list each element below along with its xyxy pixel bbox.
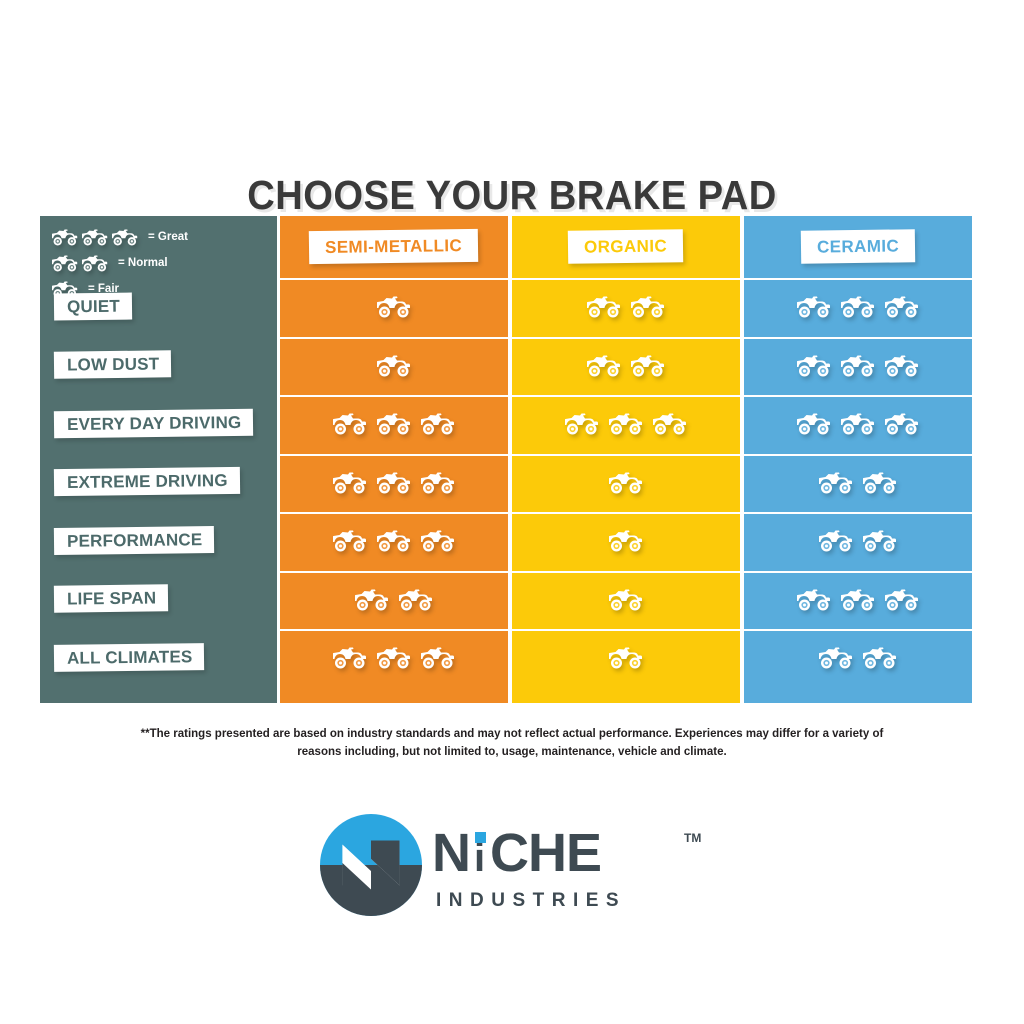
atv-icon: [355, 588, 389, 612]
atv-icon: [421, 529, 455, 553]
rating-cell: [512, 454, 740, 510]
rating-cell: [744, 512, 972, 568]
atv-icon: [609, 471, 643, 495]
atv-icon: [609, 529, 643, 553]
svg-text:CHE: CHE: [490, 826, 601, 882]
atv-icon: [609, 646, 643, 670]
column-ceramic: CERAMIC: [744, 216, 972, 703]
atv-icon: [885, 412, 919, 436]
atv-icon: [377, 354, 411, 378]
atv-icon: [587, 354, 621, 378]
atv-icon: [333, 529, 367, 553]
atv-icon: [863, 646, 897, 670]
atv-icon: [377, 471, 411, 495]
logo-subtitle: INDUSTRIES: [436, 890, 706, 912]
rating-cell: [280, 454, 508, 510]
atv-icon: [885, 295, 919, 319]
atv-icon: [377, 646, 411, 670]
atv-icon: [587, 295, 621, 319]
atv-icon: [863, 529, 897, 553]
rating-cell: [280, 571, 508, 627]
atv-icon: [52, 228, 78, 247]
atv-icon: [82, 254, 108, 273]
atv-icon: [841, 354, 875, 378]
column-organic: ORGANIC: [512, 216, 740, 703]
legend-icon-group: [52, 228, 142, 247]
atv-icon: [82, 228, 108, 247]
svg-text:TM: TM: [684, 831, 701, 845]
legend-label: = Normal: [118, 257, 168, 269]
row-label-text: EXTREME DRIVING: [54, 467, 240, 496]
atv-icon: [565, 412, 599, 436]
row-label-low-dust: LOW DUST: [54, 350, 171, 380]
row-label-text: LOW DUST: [54, 350, 172, 378]
rating-cell: [744, 337, 972, 393]
atv-icon: [885, 354, 919, 378]
row-label-text: LIFE SPAN: [54, 584, 169, 612]
atv-icon: [819, 529, 853, 553]
atv-icon: [609, 412, 643, 436]
atv-icon: [609, 588, 643, 612]
atv-icon: [333, 412, 367, 436]
page-title: CHOOSE YOUR BRAKE PAD: [36, 172, 988, 219]
row-label-text: QUIET: [54, 292, 132, 320]
atv-icon: [421, 646, 455, 670]
column-header-ceramic: CERAMIC: [744, 216, 972, 276]
atv-icon: [377, 529, 411, 553]
rating-cell: [280, 629, 508, 685]
row-label-extreme-driving: EXTREME DRIVING: [54, 467, 240, 497]
atv-icon: [797, 354, 831, 378]
column-header-label: CERAMIC: [801, 229, 916, 264]
niche-logomark-icon: [320, 814, 422, 916]
atv-icon: [112, 228, 138, 247]
rating-cell: [512, 395, 740, 451]
rating-cell: [512, 337, 740, 393]
atv-icon: [797, 588, 831, 612]
atv-icon: [841, 588, 875, 612]
atv-icon: [841, 412, 875, 436]
row-label-sidebar: = Great= Normal= Fair QUIETLOW DUSTEVERY…: [40, 216, 277, 703]
rating-cell: [744, 278, 972, 334]
brake-pad-comparison-table: = Great= Normal= Fair QUIETLOW DUSTEVERY…: [40, 216, 962, 703]
footnote-disclaimer: **The ratings presented are based on ind…: [140, 726, 884, 762]
atv-icon: [863, 471, 897, 495]
atv-icon: [377, 412, 411, 436]
row-label-quiet: QUIET: [54, 291, 132, 321]
column-header-label: ORGANIC: [568, 229, 684, 264]
atv-icon: [377, 295, 411, 319]
rating-cell: [744, 629, 972, 685]
atv-icon: [333, 471, 367, 495]
rating-cell: [280, 278, 508, 334]
rating-cell: [512, 512, 740, 568]
rating-cell: [280, 337, 508, 393]
atv-icon: [421, 412, 455, 436]
rating-cell: [744, 395, 972, 451]
atv-icon: [631, 354, 665, 378]
legend-row: = Great: [52, 224, 272, 250]
atv-icon: [333, 646, 367, 670]
row-label-performance: PERFORMANCE: [54, 525, 214, 555]
column-header-organic: ORGANIC: [512, 216, 740, 276]
atv-icon: [885, 588, 919, 612]
atv-icon: [819, 646, 853, 670]
rating-cell: [280, 395, 508, 451]
brand-logo: N i CHE TM INDUSTRIES: [320, 810, 710, 930]
atv-icon: [631, 295, 665, 319]
legend-row: = Normal: [52, 250, 272, 276]
legend-icon-group: [52, 254, 112, 273]
atv-icon: [52, 254, 78, 273]
atv-icon: [797, 412, 831, 436]
atv-icon: [819, 471, 853, 495]
rating-cell: [280, 512, 508, 568]
row-label-life-span: LIFE SPAN: [54, 584, 168, 614]
atv-icon: [399, 588, 433, 612]
row-label-every-day-driving: EVERY DAY DRIVING: [54, 408, 253, 438]
rating-cell: [744, 454, 972, 510]
rating-cell: [512, 571, 740, 627]
rating-cell: [512, 278, 740, 334]
legend-label: = Great: [148, 231, 188, 243]
niche-wordmark: N i CHE TM: [432, 826, 710, 882]
atv-icon: [841, 295, 875, 319]
column-header-semi-metallic: SEMI-METALLIC: [280, 216, 508, 276]
row-label-text: EVERY DAY DRIVING: [54, 408, 254, 437]
row-label-text: ALL CLIMATES: [54, 643, 205, 672]
row-label-text: PERFORMANCE: [54, 526, 215, 555]
atv-icon: [797, 295, 831, 319]
rating-cell: [744, 571, 972, 627]
row-label-all-climates: ALL CLIMATES: [54, 642, 204, 672]
svg-text:N: N: [432, 826, 470, 882]
atv-icon: [421, 471, 455, 495]
column-header-label: SEMI-METALLIC: [309, 228, 479, 263]
rating-cell: [512, 629, 740, 685]
column-semi-metallic: SEMI-METALLIC: [280, 216, 508, 703]
atv-icon: [653, 412, 687, 436]
